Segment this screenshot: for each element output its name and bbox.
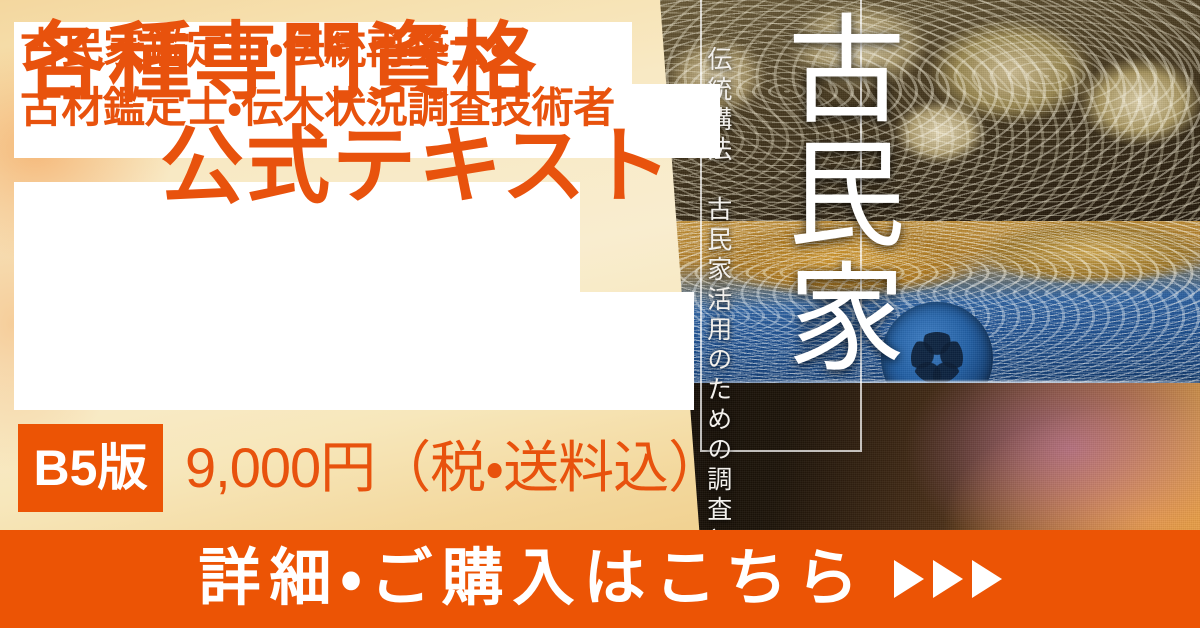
- headline-line-2: 公式テキスト: [0, 114, 680, 218]
- triangle-right-icon: [972, 560, 1002, 598]
- cta-arrow-group: [894, 560, 1002, 598]
- triangle-right-icon: [933, 560, 963, 598]
- cta-label: 詳細・ご購入はこちら: [198, 548, 867, 610]
- book-cover-title: 古民家: [772, 8, 902, 380]
- headline-text: 各種専門資格 公式テキスト: [0, 10, 680, 218]
- cta-bar[interactable]: 詳細・ご購入はこちら: [0, 530, 1200, 628]
- price-amount: 9,000円（税・送料込）: [185, 440, 723, 496]
- promo-banner: 古民家 伝統構法 古民家活用のための調査と再生の 古民家鑑定士・伝統再築士・ 古…: [0, 0, 1200, 628]
- headline-line-1: 各種専門資格: [0, 10, 680, 114]
- format-badge: B5版: [18, 424, 163, 512]
- price-row: B5版 9,000円（税・送料込）: [18, 424, 723, 512]
- triangle-right-icon: [894, 560, 924, 598]
